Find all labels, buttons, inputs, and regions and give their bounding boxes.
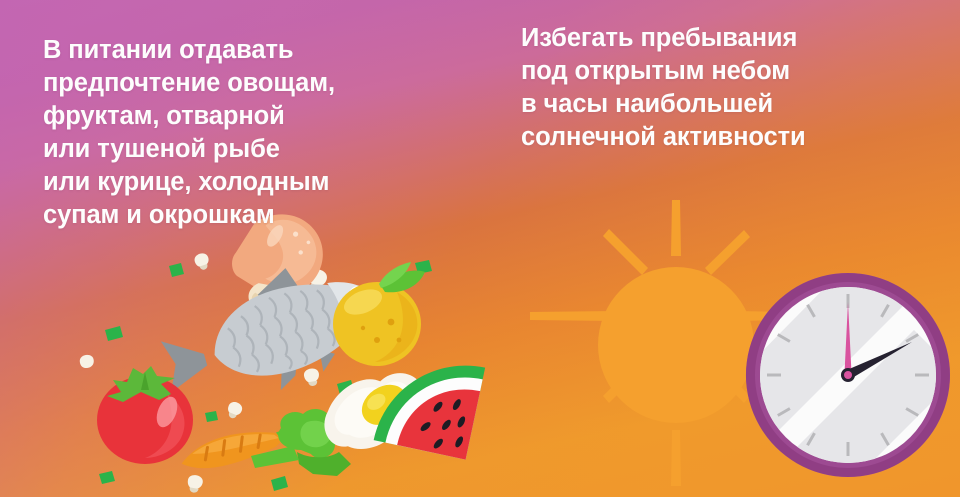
orange-fruit	[333, 262, 425, 366]
nutrition-headline: В питании отдавать предпочтение овощам, …	[43, 34, 335, 232]
food-cluster-illustration	[85, 238, 515, 497]
clock-illustration	[744, 270, 959, 497]
watermelon-slice	[374, 348, 485, 459]
poster-canvas: В питании отдавать предпочтение овощам, …	[0, 0, 960, 497]
sun-body	[598, 267, 754, 423]
sun-exposure-headline: Избегать пребывания под открытым небом в…	[521, 22, 806, 154]
